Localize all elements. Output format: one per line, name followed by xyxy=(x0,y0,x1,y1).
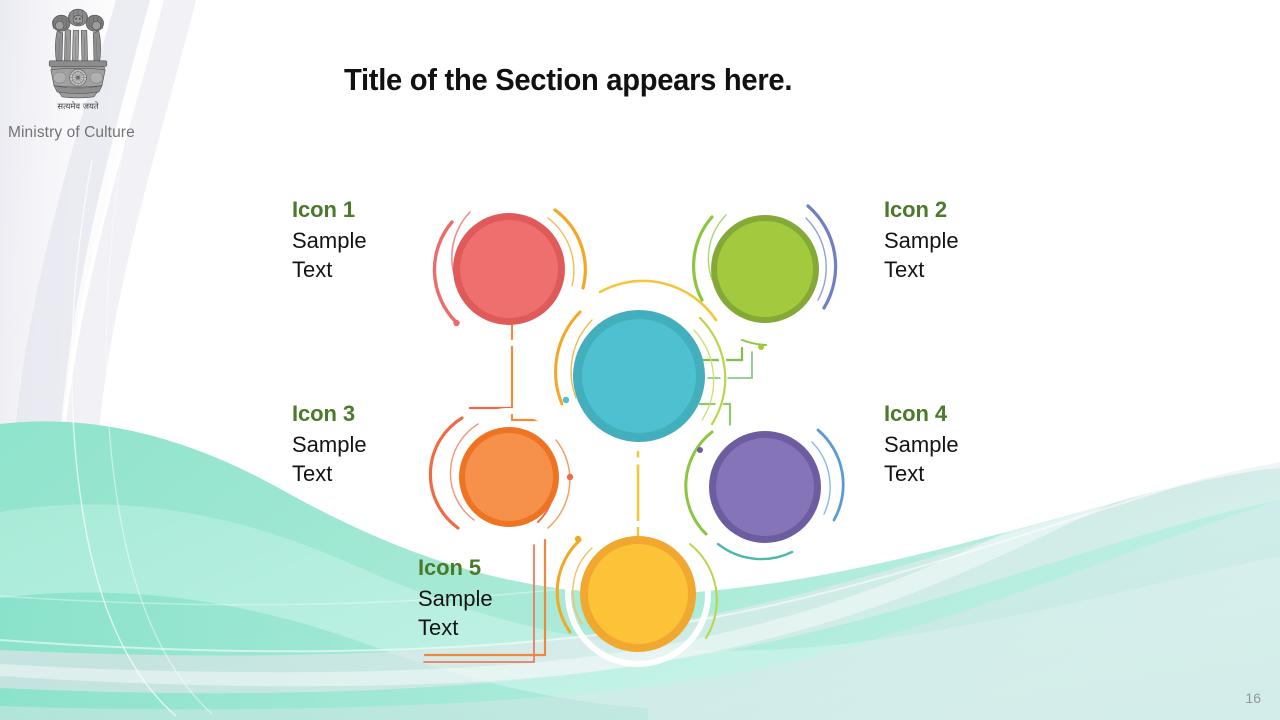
ministry-name-label: Ministry of Culture xyxy=(8,124,135,142)
node-circle-icon-5[interactable] xyxy=(580,536,696,652)
slide-canvas: सत्यमेव जयते Ministry of Culture Title o… xyxy=(0,0,1280,720)
node-circle-icon-4[interactable] xyxy=(709,431,821,543)
caption-icon-4: Icon 4 Sample Text xyxy=(884,400,959,488)
caption-body-icon-1: Sample Text xyxy=(292,226,367,284)
caption-body-icon-5: Sample Text xyxy=(418,584,493,642)
node-circle-center[interactable] xyxy=(573,310,705,442)
caption-icon-2: Icon 2 Sample Text xyxy=(884,196,959,284)
node-circle-icon-1[interactable] xyxy=(453,213,565,325)
caption-title-icon-1: Icon 1 xyxy=(292,196,367,224)
ministry-brand: सत्यमेव जयते Ministry of Culture xyxy=(0,0,230,150)
node-circle-icon-2[interactable] xyxy=(711,215,819,323)
caption-title-icon-3: Icon 3 xyxy=(292,400,367,428)
caption-title-icon-5: Icon 5 xyxy=(418,554,493,582)
ashoka-lion-capital-emblem: सत्यमेव जयते xyxy=(38,4,118,116)
caption-body-icon-2: Sample Text xyxy=(884,226,959,284)
caption-icon-3: Icon 3 Sample Text xyxy=(292,400,367,488)
slide-page-number: 16 xyxy=(1245,690,1261,706)
emblem-motto-text: सत्यमेव जयते xyxy=(57,101,98,111)
caption-icon-1: Icon 1 Sample Text xyxy=(292,196,367,284)
node-circle-icon-3[interactable] xyxy=(459,427,559,527)
caption-icon-5: Icon 5 Sample Text xyxy=(418,554,493,642)
page-title: Title of the Section appears here. xyxy=(344,62,792,98)
caption-title-icon-2: Icon 2 xyxy=(884,196,959,224)
caption-body-icon-3: Sample Text xyxy=(292,430,367,488)
caption-body-icon-4: Sample Text xyxy=(884,430,959,488)
caption-title-icon-4: Icon 4 xyxy=(884,400,959,428)
